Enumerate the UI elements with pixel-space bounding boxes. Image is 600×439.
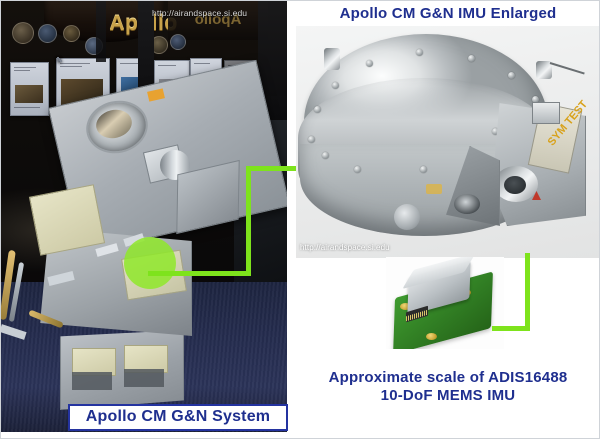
imu-location-highlight <box>124 237 176 289</box>
gn-system-base-shadow <box>124 369 164 387</box>
imu-lower-port <box>454 194 480 214</box>
flange-bolt-icon <box>314 106 321 113</box>
flange-bolt-icon <box>354 166 361 173</box>
imu-top-connector <box>324 48 340 70</box>
connector-imu-to-mems-vertical <box>525 253 530 331</box>
mission-patch-icon <box>63 25 80 42</box>
imu-enlarged-title: Apollo CM G&N IMU Enlarged <box>300 5 596 24</box>
flange-bolt-icon <box>468 55 475 62</box>
flange-bolt-icon <box>366 60 373 67</box>
exhibit-structure <box>96 0 106 62</box>
airandspace-watermark: http://airandspace.si.edu <box>300 243 390 252</box>
flange-bolt-icon <box>508 72 515 79</box>
imu-antenna-wire <box>550 62 585 74</box>
imu-main-port-bore <box>504 176 526 194</box>
flange-bolt-icon <box>332 82 339 89</box>
apollo-cm-gn-system-photo: Apollo Apollo <box>0 0 287 432</box>
mounting-pad-icon <box>426 333 437 340</box>
apollo-cm-gn-system-caption: Apollo CM G&N System <box>68 404 288 431</box>
imu-bottom-knob <box>394 204 420 230</box>
airandspace-watermark: http://airandspace.si.edu <box>152 8 247 18</box>
mems-imu-caption-line2: 10-DoF MEMS IMU <box>300 387 596 406</box>
gn-system-cream-panel <box>29 184 105 255</box>
apollo-cm-gn-imu-enlarged-photo: SYM TEST http://airandspace.si.edu <box>296 26 600 258</box>
connector-left-to-imu-vertical <box>246 166 251 276</box>
adis16488-mems-imu-photo <box>386 257 504 349</box>
flange-bolt-icon <box>308 136 315 143</box>
mission-patch-icon <box>38 24 57 43</box>
connector-left-to-imu-horizontal-bottom <box>148 271 248 276</box>
screenshot-root: Apollo Apollo <box>0 0 600 439</box>
gn-system-base-shadow <box>72 372 112 390</box>
connector-left-to-imu-horizontal-top <box>246 166 296 171</box>
mission-patch-icon <box>12 22 34 44</box>
imu-connector-block <box>532 102 560 124</box>
connector-imu-to-mems-horizontal <box>492 326 530 331</box>
exhibit-info-panel <box>10 62 49 116</box>
imu-yellow-mark <box>426 184 442 194</box>
flange-bolt-icon <box>420 166 427 173</box>
mission-patch-icon <box>170 34 186 50</box>
exhibit-info-panel <box>60 60 62 62</box>
flange-bolt-icon <box>416 49 423 56</box>
mems-imu-caption-line1: Approximate scale of ADIS16488 <box>300 369 596 388</box>
flange-bolt-icon <box>322 152 329 159</box>
